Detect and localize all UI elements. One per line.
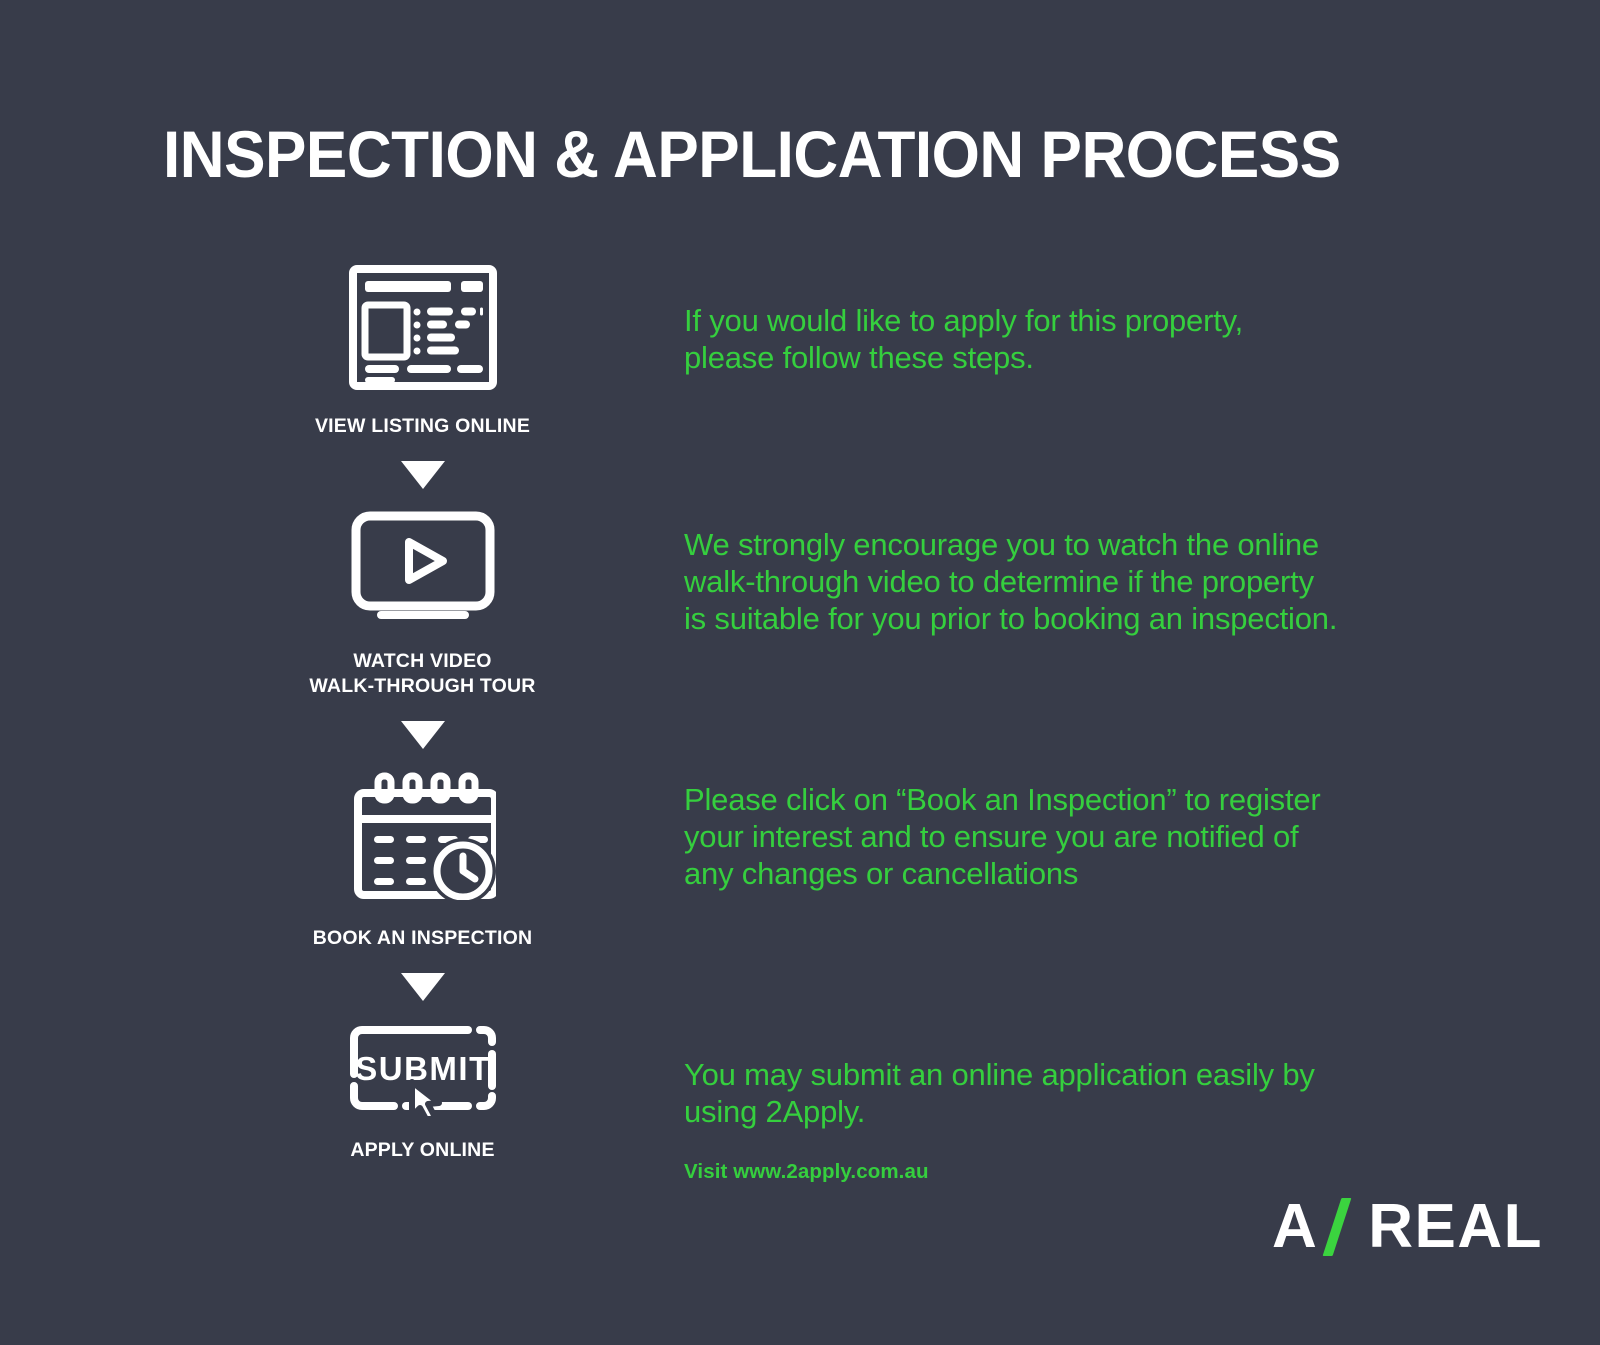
- logo-letter-a: A: [1272, 1196, 1318, 1258]
- calendar-clock-icon: [350, 772, 496, 900]
- video-play-monitor-icon: [351, 511, 495, 623]
- svg-text:SUBMIT: SUBMIT: [355, 1050, 491, 1087]
- down-arrow-icon: [401, 721, 445, 749]
- step-watch-video-walkthrough[interactable]: WATCH VIDEO WALK-THROUGH TOUR: [300, 489, 545, 699]
- copy-step-2: We strongly encourage you to watch the o…: [684, 527, 1337, 638]
- submit-button-cursor-icon: SUBMIT: [348, 1024, 498, 1116]
- step-book-an-inspection[interactable]: BOOK AN INSPECTION: [300, 749, 545, 951]
- slash-icon: [1320, 1196, 1354, 1258]
- page-title: INSPECTION & APPLICATION PROCESS: [163, 121, 1341, 187]
- browser-listing-icon: [349, 265, 497, 390]
- logo[interactable]: A REAL: [1272, 1196, 1543, 1258]
- logo-word-real: REAL: [1368, 1196, 1543, 1258]
- step-label: BOOK AN INSPECTION: [313, 926, 533, 951]
- step-flow: VIEW LISTING ONLINE WATCH VIDEO WALK-THR…: [300, 265, 545, 1163]
- copy-step-3: Please click on “Book an Inspection” to …: [684, 782, 1321, 893]
- down-arrow-icon: [401, 973, 445, 1001]
- down-arrow-icon: [401, 461, 445, 489]
- step-label: APPLY ONLINE: [350, 1138, 494, 1163]
- step-label: WATCH VIDEO WALK-THROUGH TOUR: [309, 649, 535, 699]
- copy-step-1: If you would like to apply for this prop…: [684, 303, 1243, 377]
- step-apply-online[interactable]: SUBMIT APPLY ONLINE: [300, 1001, 545, 1163]
- infographic-canvas: INSPECTION & APPLICATION PROCESS: [0, 0, 1600, 1345]
- visit-url-link[interactable]: Visit www.2apply.com.au: [684, 1160, 929, 1184]
- step-label: VIEW LISTING ONLINE: [315, 414, 530, 439]
- step-view-listing-online[interactable]: VIEW LISTING ONLINE: [300, 265, 545, 439]
- copy-step-4: You may submit an online application eas…: [684, 1057, 1315, 1131]
